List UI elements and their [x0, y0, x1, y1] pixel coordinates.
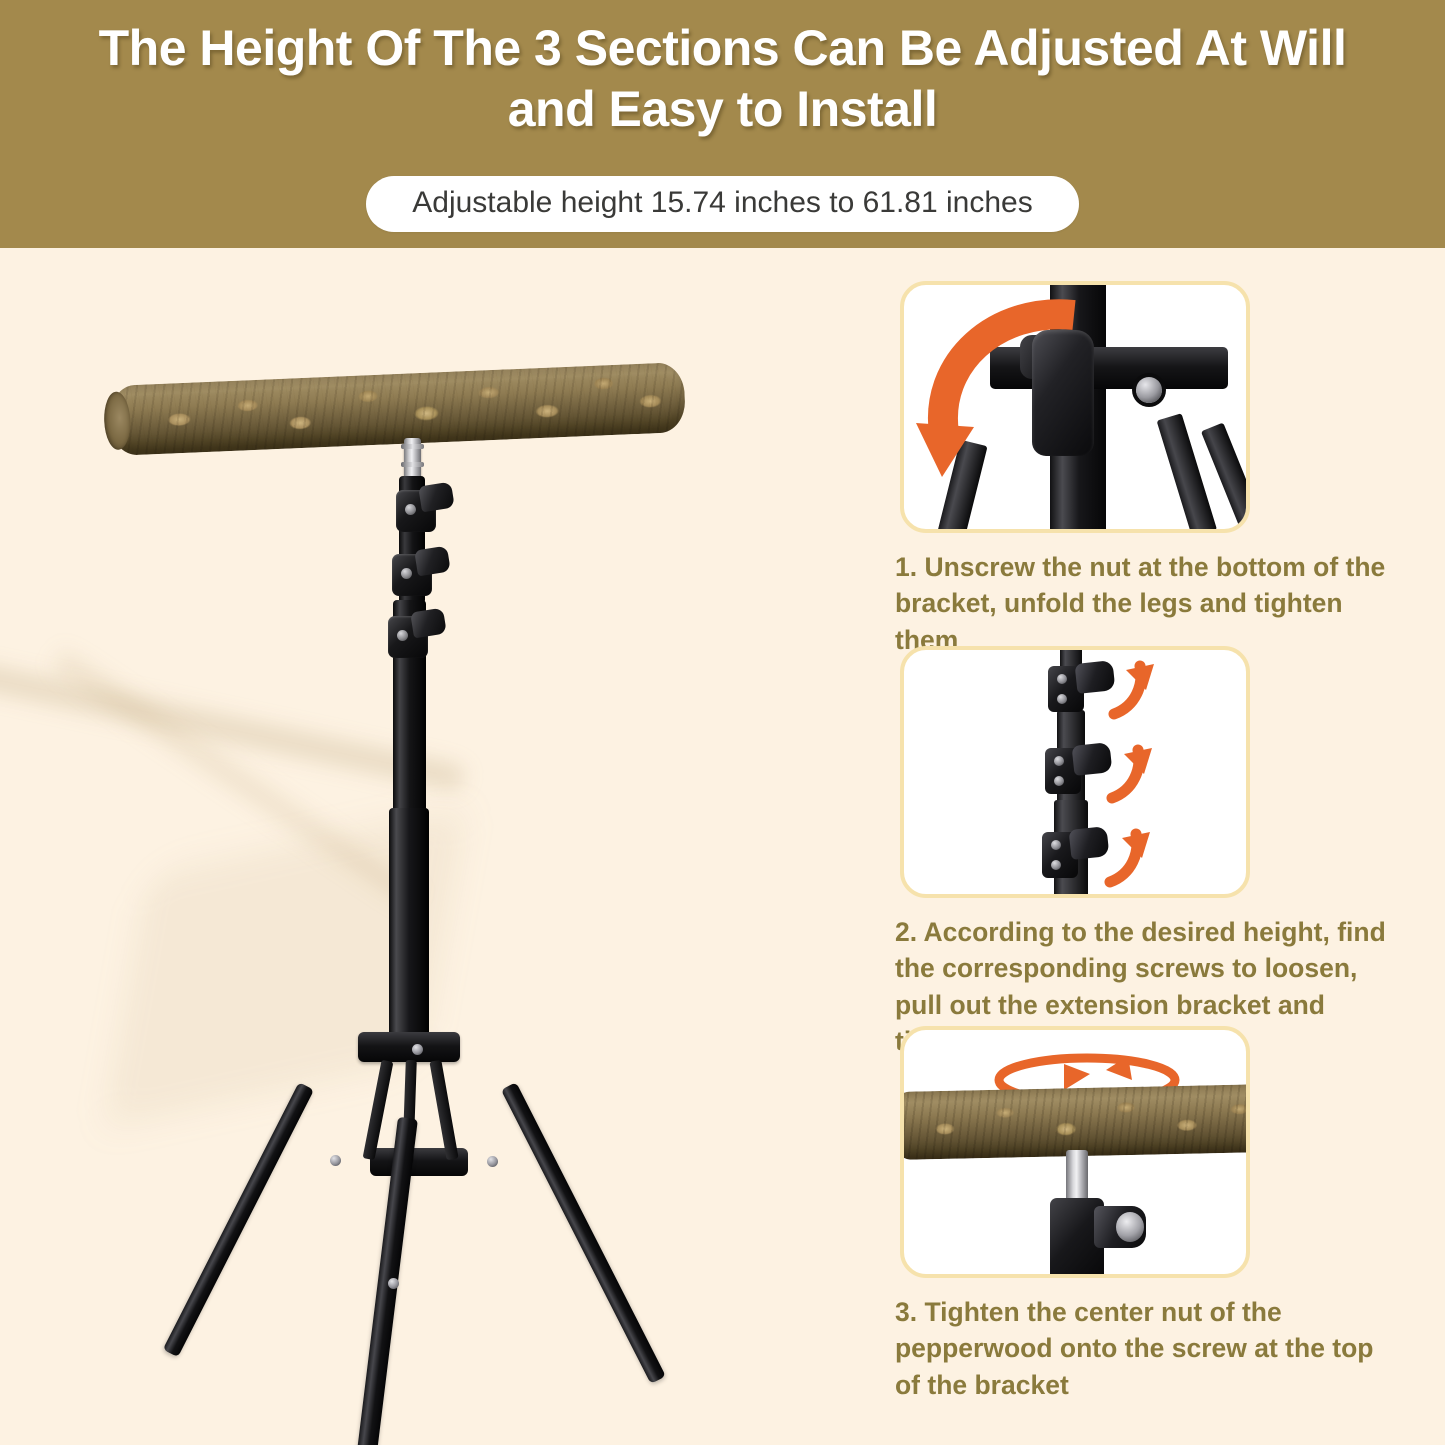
product-photo	[0, 248, 855, 1445]
step-1-text: 1. Unscrew the nut at the bottom of the …	[895, 549, 1391, 658]
curved-down-arrow-icon	[926, 301, 1106, 501]
tripod-leg-left	[163, 1082, 314, 1357]
tripod-brace-right	[429, 1060, 458, 1161]
step-1: 1. Unscrew the nut at the bottom of the …	[895, 281, 1391, 658]
branch-bark-texture	[109, 362, 686, 456]
step-2-image-card	[900, 646, 1250, 898]
step3-pepperwood-branch	[900, 1084, 1250, 1160]
adjustable-height-badge: Adjustable height 15.74 inches to 61.81 …	[366, 176, 1078, 232]
tripod-leg-right	[501, 1082, 666, 1384]
knob-clamp-1	[396, 484, 452, 538]
curved-up-arrow-icon-1	[1102, 656, 1172, 718]
step-2: 2. According to the desired height, find…	[895, 646, 1391, 1059]
leg-rivet-front	[388, 1278, 399, 1289]
step3-screw-shaft	[1066, 1150, 1088, 1202]
curved-up-arrow-icon-3	[1098, 824, 1168, 886]
step-3-image-card	[900, 1026, 1250, 1278]
step1-screw-head	[1136, 377, 1162, 403]
tripod-yoke-upper	[358, 1032, 460, 1062]
leg-rivet-left	[330, 1155, 341, 1166]
page-title: The Height Of The 3 Sections Can Be Adju…	[0, 0, 1445, 140]
step-3: 3. Tighten the center nut of the pepperw…	[895, 1026, 1391, 1403]
leg-rivet-right	[487, 1156, 498, 1167]
knob-clamp-3	[388, 610, 444, 664]
step-1-image-card	[900, 281, 1250, 533]
subtitle-badge-wrap: Adjustable height 15.74 inches to 61.81 …	[0, 176, 1445, 232]
yoke-rivet-top	[412, 1044, 423, 1055]
pole-section-bottom	[389, 808, 429, 1038]
screw-ring-mid	[401, 462, 424, 467]
step-3-text: 3. Tighten the center nut of the pepperw…	[895, 1294, 1391, 1403]
screw-ring-top	[401, 444, 424, 449]
header-band: The Height Of The 3 Sections Can Be Adju…	[0, 0, 1445, 248]
tripod-brace-left	[363, 1060, 394, 1160]
instruction-steps-column: 1. Unscrew the nut at the bottom of the …	[855, 248, 1445, 1445]
curved-up-arrow-icon-2	[1100, 740, 1170, 802]
knob-clamp-2	[392, 548, 448, 602]
step3-mount-nut	[1116, 1212, 1144, 1242]
wooden-branch-perch	[109, 362, 686, 456]
infographic-page: The Height Of The 3 Sections Can Be Adju…	[0, 0, 1445, 1445]
step3-bark-texture	[900, 1084, 1250, 1160]
